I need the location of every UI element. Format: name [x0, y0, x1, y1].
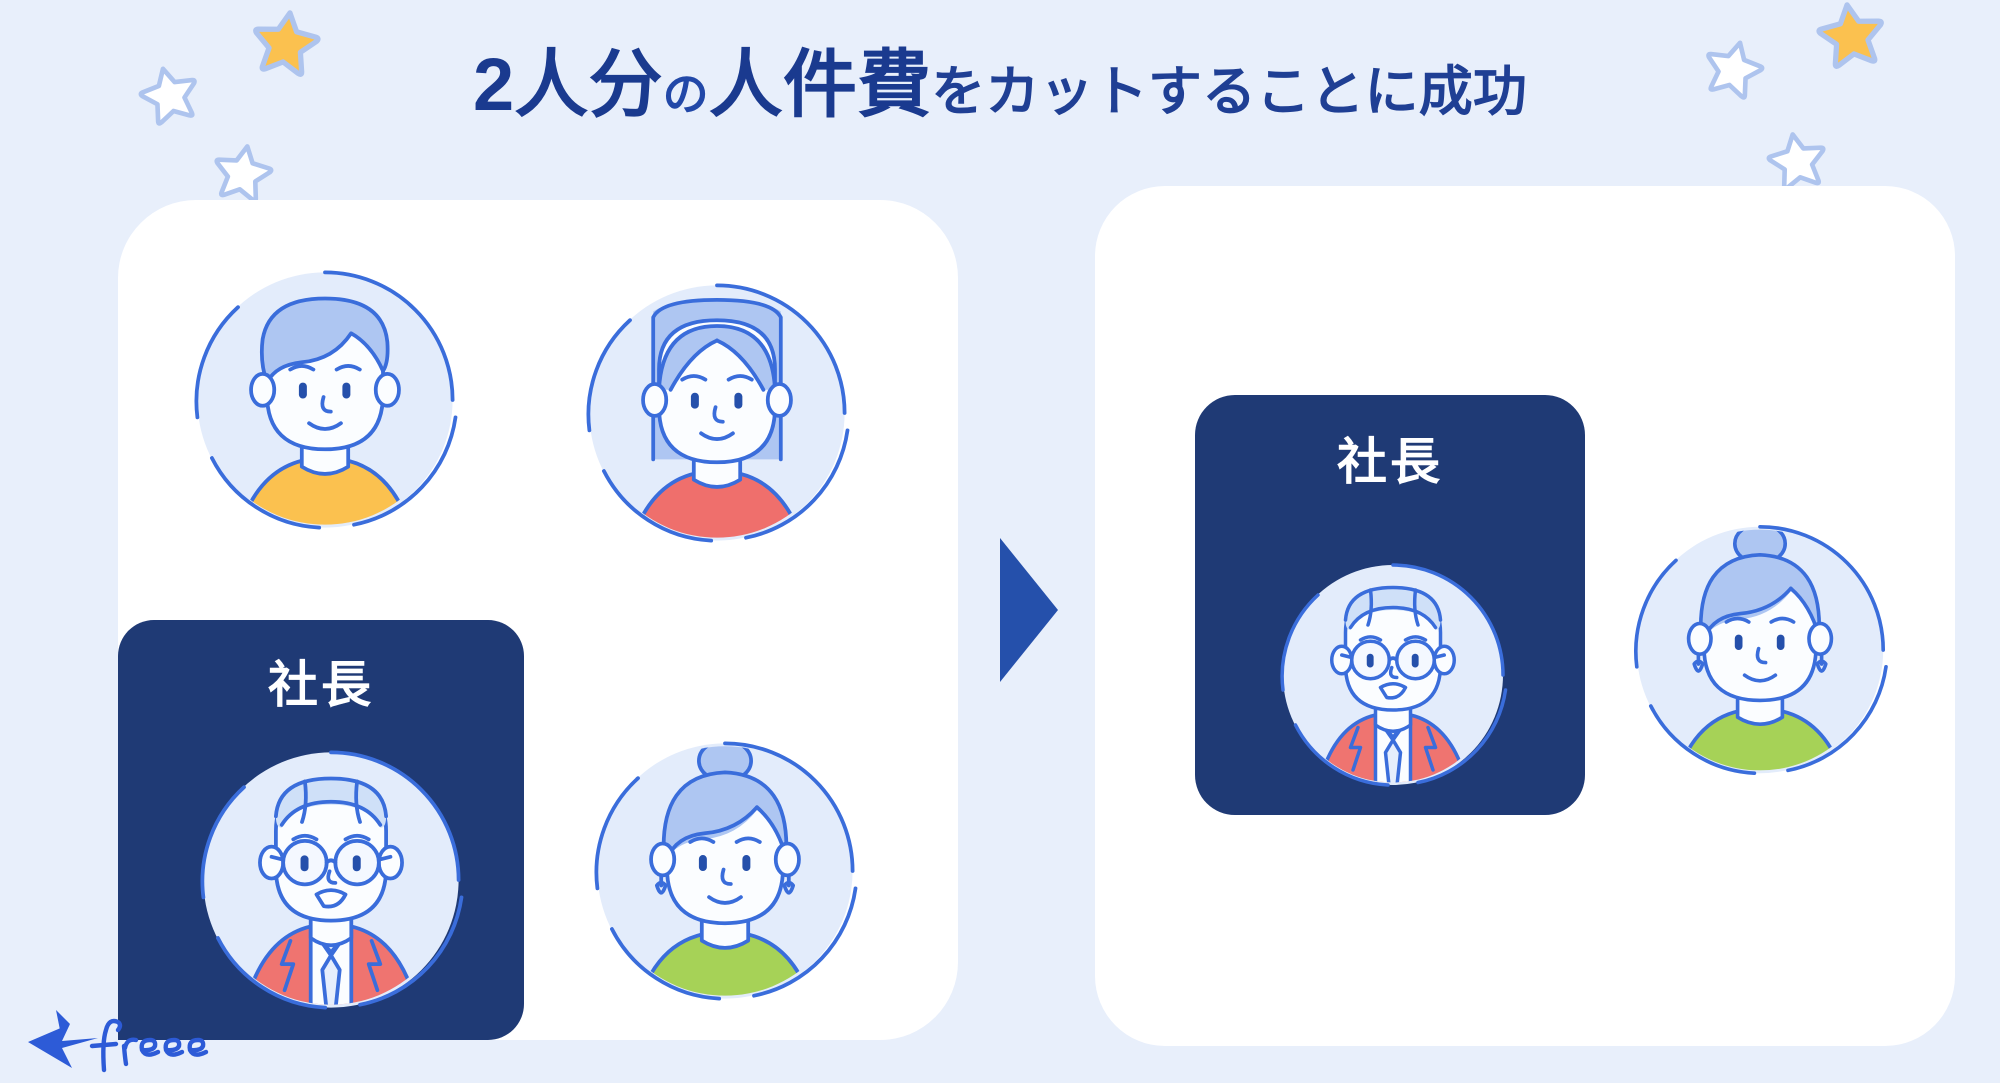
boss-label: 社長 — [1195, 437, 1585, 487]
avatar-employee-female-green-after[interactable] — [1620, 510, 1900, 790]
boss-label: 社長 — [118, 660, 524, 710]
transition-arrow-icon — [1000, 538, 1058, 682]
title-segment-emphasis-2: 人件費 — [709, 43, 931, 126]
avatar-employee-female-green[interactable] — [580, 726, 870, 1016]
star-outline-top-right-b-icon — [1763, 125, 1830, 192]
avatar-employee-male-yellow[interactable] — [180, 255, 470, 545]
star-filled-top-left-icon — [249, 4, 324, 79]
star-filled-top-right-icon — [1814, 0, 1889, 70]
freee-logo[interactable] — [26, 1008, 226, 1074]
avatar-president-after[interactable] — [1268, 550, 1518, 800]
title-segment-emphasis-1: 2人分 — [473, 43, 663, 126]
slide-canvas: 2人分の人件費をカットすることに成功 — [0, 0, 2000, 1083]
title-segment-tail: をカットすることに成功 — [931, 62, 1527, 122]
avatar-president-before[interactable] — [186, 735, 476, 1025]
title-segment-particle: の — [663, 68, 709, 120]
freee-bird-icon — [28, 1010, 98, 1068]
freee-wordmark-icon — [92, 1021, 206, 1070]
avatar-employee-female-red[interactable] — [572, 268, 862, 558]
star-outline-top-left-b-icon — [209, 137, 276, 204]
